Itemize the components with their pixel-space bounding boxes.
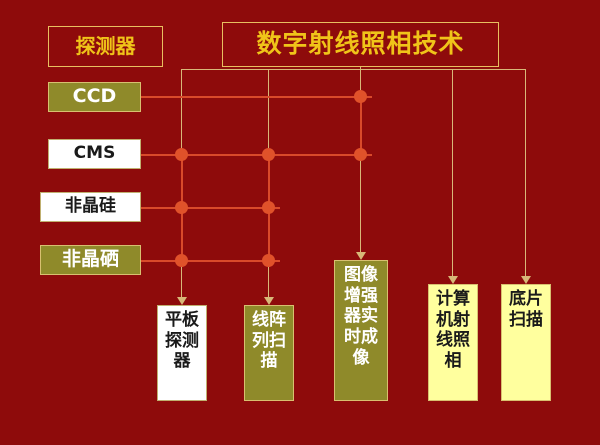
- branch-arrow-film-scan: [521, 276, 531, 284]
- junction-dot-selenium-line-array: [262, 254, 275, 267]
- detector-box-amorphous-selenium[interactable]: 非晶硒: [40, 245, 141, 275]
- detector-box-ccd[interactable]: CCD: [48, 82, 141, 112]
- junction-dot-silicon-flat-panel: [175, 201, 188, 214]
- row-line-amorphous-selenium: [140, 260, 280, 262]
- junction-dot-cms-flat-panel: [175, 148, 188, 161]
- junction-dot-cms-line-array: [262, 148, 275, 161]
- branch-line-computed-radiography: [452, 69, 453, 276]
- method-box-film-scan[interactable]: 底片扫描: [501, 284, 551, 401]
- branch-arrow-computed-radiography: [448, 276, 458, 284]
- detector-label-cms: CMS: [74, 144, 116, 164]
- method-box-flat-panel-detector[interactable]: 平板探测器: [157, 305, 207, 401]
- branch-arrow-image-intensifier: [356, 252, 366, 260]
- branch-line-film-scan: [525, 69, 526, 276]
- detector-label-ccd: CCD: [73, 86, 117, 108]
- method-label-computed-radiography: 计算机射线照相: [431, 289, 475, 372]
- method-label-flat-panel-detector: 平板探测器: [160, 310, 204, 372]
- method-label-line-array-scan: 线阵列扫描: [247, 310, 291, 372]
- branch-arrow-flat-panel: [177, 297, 187, 305]
- detector-group-label-text: 探测器: [76, 35, 136, 58]
- title-bus-line: [181, 69, 526, 70]
- row-line-ccd: [140, 96, 372, 98]
- method-label-image-intensifier-realtime: 图像增强器实时成像: [337, 265, 385, 369]
- detector-box-amorphous-silicon[interactable]: 非晶硅: [40, 192, 141, 222]
- method-box-line-array-scan[interactable]: 线阵列扫描: [244, 305, 294, 401]
- detector-label-amorphous-silicon: 非晶硅: [65, 197, 116, 217]
- detector-group-label: 探测器: [48, 26, 163, 67]
- detector-box-cms[interactable]: CMS: [48, 139, 141, 169]
- junction-dot-ccd-image-intensifier: [354, 90, 367, 103]
- slide-canvas: 数字射线照相技术 探测器 CCD CMS 非晶硅: [0, 0, 600, 445]
- method-label-film-scan: 底片扫描: [504, 289, 548, 330]
- slide-title: 数字射线照相技术: [222, 22, 499, 67]
- method-box-image-intensifier-realtime[interactable]: 图像增强器实时成像: [334, 260, 388, 401]
- junction-dot-selenium-flat-panel: [175, 254, 188, 267]
- slide-title-text: 数字射线照相技术: [256, 30, 464, 59]
- row-line-amorphous-silicon: [140, 207, 280, 209]
- branch-arrow-line-array: [264, 297, 274, 305]
- junction-dot-cms-image-intensifier: [354, 148, 367, 161]
- col-line-image-intensifier: [360, 96, 362, 156]
- junction-dot-silicon-line-array: [262, 201, 275, 214]
- method-box-computed-radiography[interactable]: 计算机射线照相: [428, 284, 478, 401]
- detector-label-amorphous-selenium: 非晶硒: [62, 249, 119, 271]
